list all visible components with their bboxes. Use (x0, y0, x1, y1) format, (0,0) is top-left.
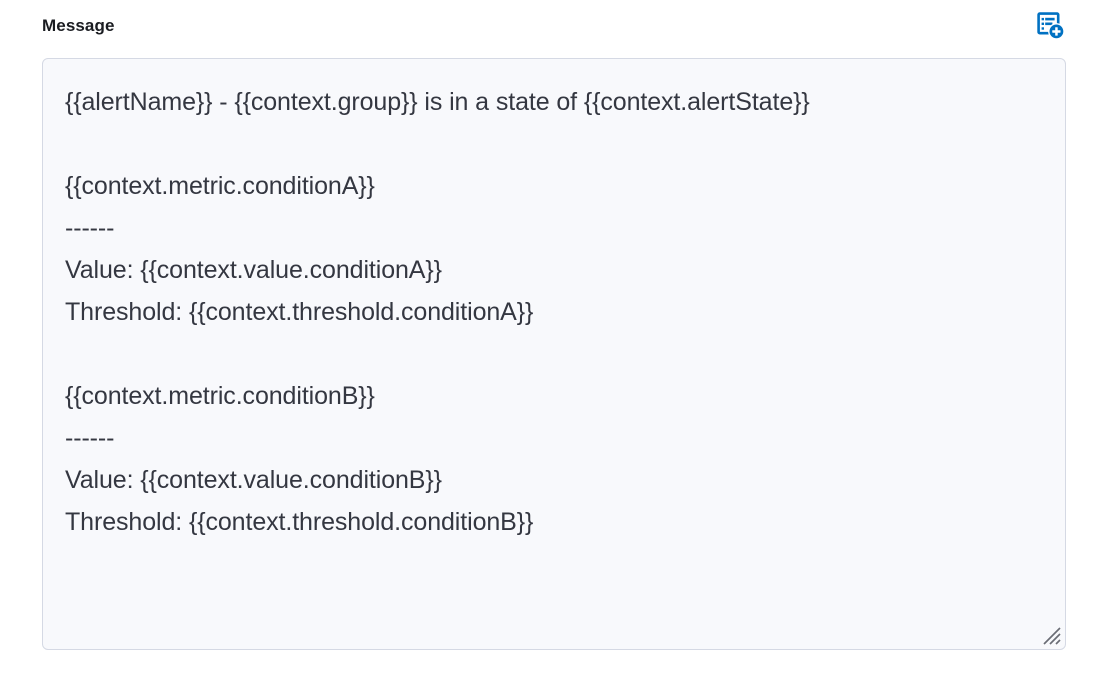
page-title: Message (42, 16, 115, 36)
message-input[interactable] (42, 58, 1066, 650)
resize-grip-icon[interactable] (1041, 625, 1063, 647)
add-to-list-plus-icon (1037, 12, 1065, 40)
message-form-panel: Message (0, 0, 1108, 688)
add-variable-button[interactable] (1034, 9, 1068, 43)
message-field-header: Message (42, 10, 1066, 42)
message-textarea-container (42, 58, 1066, 650)
